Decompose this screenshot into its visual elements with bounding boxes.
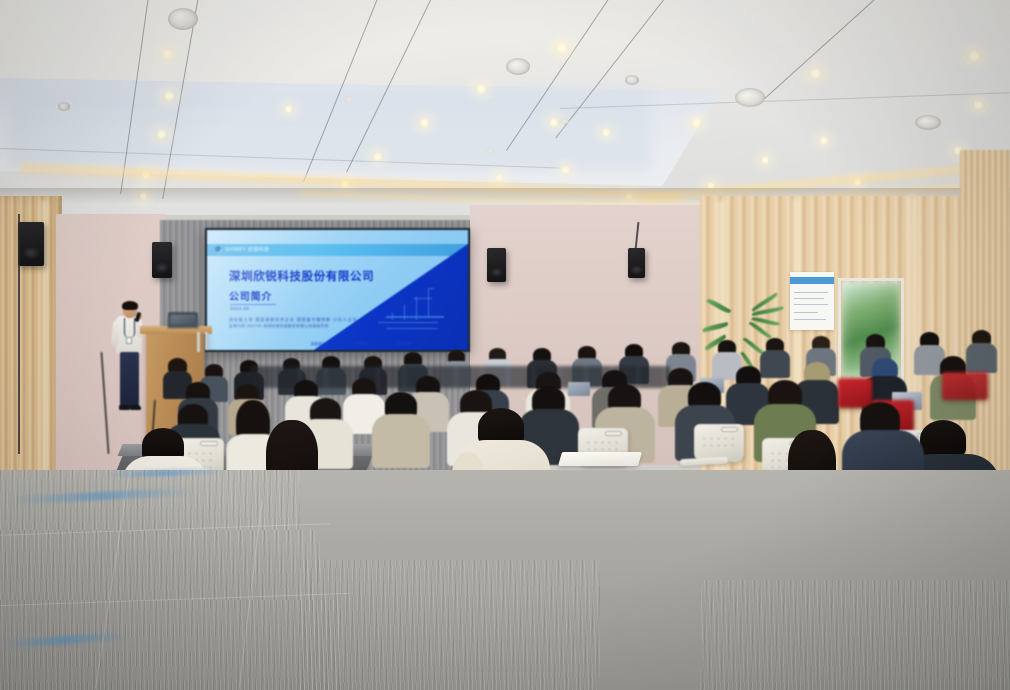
downlight <box>283 105 294 113</box>
presenter-shoe <box>130 405 141 410</box>
ceiling-speaker <box>506 58 530 75</box>
torso <box>760 350 790 378</box>
slide-content: SHINRY 欣锐科技 深圳欣锐科技股份有限公司 公司简介 2024.08 创业… <box>207 230 468 350</box>
notice-poster <box>790 272 834 330</box>
downlight-off <box>486 148 495 154</box>
wall-speaker <box>628 248 645 278</box>
presenter-shoe <box>119 405 130 410</box>
downlight-off <box>560 118 569 124</box>
wall-speaker <box>152 242 172 278</box>
chair-handle <box>605 431 622 436</box>
podium-laptop[interactable] <box>167 312 198 328</box>
downlight <box>494 174 505 182</box>
carpet-tile <box>700 580 1010 690</box>
poster-text-line <box>794 292 828 293</box>
wall-speaker <box>18 222 44 266</box>
downlight <box>760 156 770 164</box>
podium-support <box>205 332 208 350</box>
presenter-hair <box>122 301 138 310</box>
downlight <box>548 118 560 127</box>
chair-handle <box>721 427 738 432</box>
downlight <box>560 166 571 174</box>
speaker-cable <box>18 214 20 454</box>
downlight <box>160 48 175 59</box>
hair <box>920 420 966 458</box>
red-bag <box>838 378 872 408</box>
torso <box>966 343 997 373</box>
torso <box>372 414 430 468</box>
ceiling-speaker <box>168 8 198 30</box>
ceiling-speaker <box>915 115 941 130</box>
conference-room-scene: SHINRY 欣锐科技 深圳欣锐科技股份有限公司 公司简介 2024.08 创业… <box>0 0 1010 690</box>
carpet-tile <box>0 530 320 600</box>
downlight <box>808 68 823 79</box>
ceiling-light-panel <box>10 90 650 170</box>
presenter-legs <box>120 352 139 408</box>
chair-handle <box>200 441 218 446</box>
poster-text-line <box>794 298 824 299</box>
ceiling-speaker <box>58 102 70 111</box>
downlight <box>162 91 176 101</box>
chair-perforation <box>701 435 737 452</box>
poster-text-line <box>794 312 818 313</box>
downlight <box>690 118 703 128</box>
ceiling-speaker <box>735 88 765 107</box>
presenter-badge <box>126 337 132 344</box>
red-jacket <box>942 372 988 400</box>
laptop-screen[interactable] <box>568 382 590 396</box>
carpet-tile <box>0 600 340 690</box>
wall-speaker <box>487 248 506 282</box>
screen-glare <box>207 230 468 350</box>
downlight <box>966 50 982 62</box>
downlight <box>600 128 612 137</box>
downlight <box>372 152 384 161</box>
projector-screen[interactable]: SHINRY 欣锐科技 深圳欣锐科技股份有限公司 公司简介 2024.08 创业… <box>205 228 470 352</box>
desk-tablet[interactable] <box>558 452 642 466</box>
ceiling-speaker <box>625 75 639 85</box>
downlight <box>418 118 431 128</box>
poster-header-band <box>790 277 834 284</box>
carpet-tile <box>300 560 600 690</box>
poster-text-line <box>794 319 826 320</box>
downlight <box>818 136 830 145</box>
downlight <box>474 84 488 94</box>
podium-support <box>197 332 200 352</box>
downlight <box>554 42 570 54</box>
downlight <box>972 100 985 110</box>
poster-text-line <box>794 304 828 305</box>
presenter-lanyard <box>124 318 135 338</box>
downlight-off <box>344 96 354 103</box>
wood-slat-wall-far-right <box>960 150 1010 480</box>
downlight <box>155 130 168 139</box>
